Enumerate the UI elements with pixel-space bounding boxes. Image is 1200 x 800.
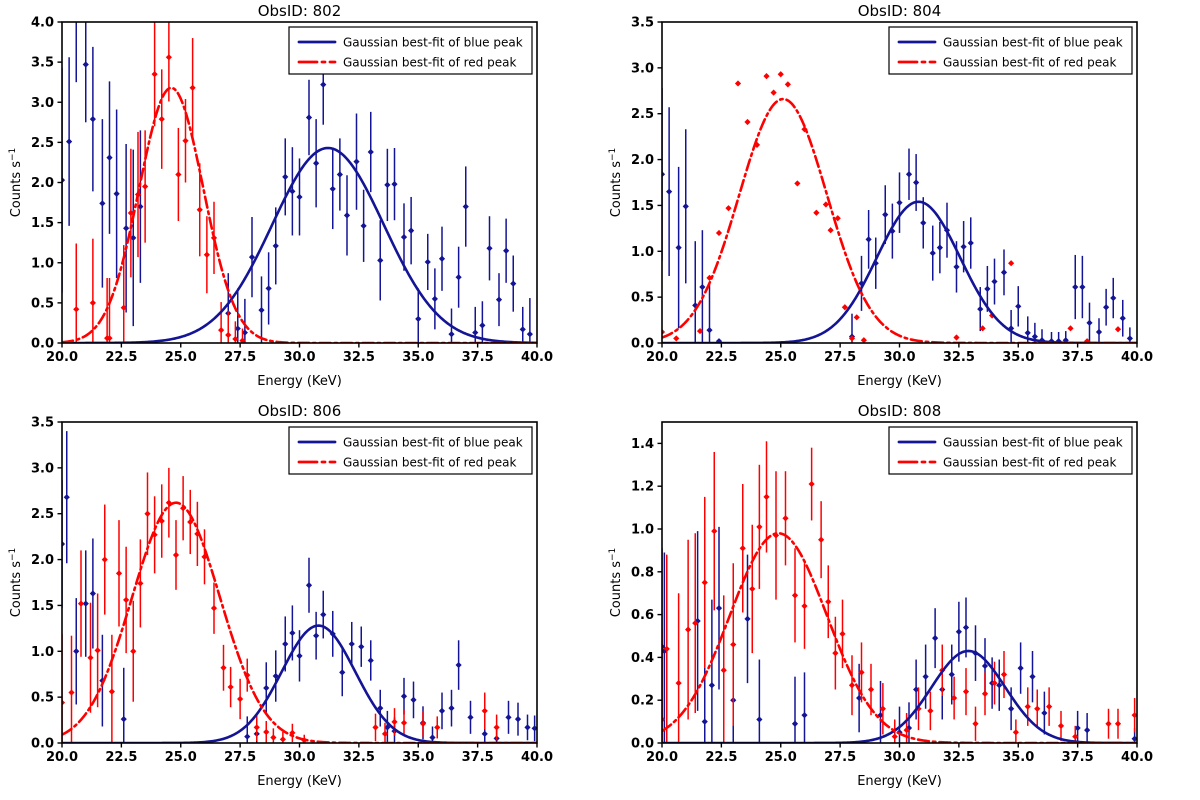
y-tick-label: 1.0 — [31, 256, 54, 271]
x-tick-label: 22.5 — [105, 350, 137, 365]
y-tick-label: 1.5 — [31, 599, 54, 614]
y-tick-label: 3.0 — [31, 461, 54, 476]
y-tick-label: 0.0 — [631, 337, 654, 352]
x-tick-label: 20.0 — [646, 350, 678, 365]
y-tick-label: 0.5 — [31, 296, 54, 311]
y-tick-label: 1.0 — [631, 523, 654, 538]
x-tick-label: 40.0 — [1121, 350, 1153, 365]
data-series — [659, 527, 1138, 743]
x-tick-label: 27.5 — [224, 750, 256, 765]
legend: Gaussian best-fit of blue peakGaussian b… — [889, 27, 1132, 74]
y-tick-label: 2.5 — [631, 107, 654, 122]
y-tick-label: 3.5 — [631, 16, 654, 31]
plot-area — [59, 431, 538, 743]
x-tick-label: 37.5 — [462, 350, 494, 365]
x-tick-label: 37.5 — [462, 750, 494, 765]
y-tick-label: 0.0 — [31, 337, 54, 352]
y-axis-label: Counts s−1 — [608, 148, 624, 218]
y-tick-label: 1.0 — [631, 245, 654, 260]
x-tick-label: 30.0 — [883, 350, 915, 365]
y-tick-label: 0.8 — [631, 565, 654, 580]
x-tick-label: 25.0 — [165, 750, 197, 765]
x-axis-label: Energy (KeV) — [257, 374, 342, 389]
x-axis-label: Energy (KeV) — [857, 774, 942, 789]
y-tick-label: 2.0 — [31, 176, 54, 191]
y-tick-label: 1.5 — [631, 199, 654, 214]
y-tick-label: 3.5 — [31, 56, 54, 71]
data-series — [659, 88, 1133, 344]
legend-label: Gaussian best-fit of red peak — [943, 456, 1116, 470]
y-tick-label: 2.5 — [31, 507, 54, 522]
data-series — [659, 441, 1138, 743]
y-tick-label: 0.6 — [631, 608, 654, 623]
x-tick-label: 20.0 — [46, 350, 78, 365]
x-tick-label: 37.5 — [1062, 750, 1094, 765]
y-tick-label: 0.5 — [31, 691, 54, 706]
y-tick-label: 0.5 — [631, 291, 654, 306]
y-tick-label: 1.0 — [31, 645, 54, 660]
legend-label: Gaussian best-fit of blue peak — [943, 436, 1123, 450]
data-series — [59, 431, 538, 743]
y-axis-label: Counts s−1 — [8, 548, 24, 618]
panel-title: ObsID: 808 — [858, 402, 942, 420]
data-series — [73, 22, 245, 344]
y-tick-label: 1.4 — [631, 437, 654, 452]
legend: Gaussian best-fit of blue peakGaussian b… — [289, 427, 532, 474]
panel-title: ObsID: 802 — [258, 2, 342, 20]
chart-panel-808: ObsID: 80820.022.525.027.530.032.535.037… — [600, 400, 1200, 800]
chart-panel-806: ObsID: 80620.022.525.027.530.032.535.037… — [0, 400, 600, 800]
x-tick-label: 22.5 — [105, 750, 137, 765]
x-tick-label: 35.0 — [402, 350, 434, 365]
y-tick-label: 1.5 — [31, 216, 54, 231]
legend-label: Gaussian best-fit of red peak — [343, 56, 516, 70]
x-tick-label: 32.5 — [343, 750, 375, 765]
x-tick-label: 22.5 — [705, 750, 737, 765]
x-tick-label: 40.0 — [1121, 750, 1153, 765]
y-axis-label: Counts s−1 — [608, 548, 624, 618]
y-tick-label: 0.0 — [31, 737, 54, 752]
y-tick-label: 1.2 — [631, 480, 654, 495]
x-tick-label: 37.5 — [1062, 350, 1094, 365]
legend-label: Gaussian best-fit of red peak — [943, 56, 1116, 70]
x-tick-label: 35.0 — [402, 750, 434, 765]
panel-title: ObsID: 804 — [858, 2, 942, 20]
legend: Gaussian best-fit of blue peakGaussian b… — [289, 27, 532, 74]
y-tick-label: 3.0 — [631, 61, 654, 76]
y-tick-label: 0.2 — [631, 694, 654, 709]
x-tick-label: 32.5 — [943, 350, 975, 365]
x-tick-label: 40.0 — [521, 750, 553, 765]
x-tick-label: 35.0 — [1002, 350, 1034, 365]
y-tick-label: 2.5 — [31, 136, 54, 151]
data-series — [659, 71, 1121, 344]
x-tick-label: 25.0 — [765, 750, 797, 765]
x-tick-label: 40.0 — [521, 350, 553, 365]
x-tick-label: 27.5 — [824, 750, 856, 765]
x-axis-label: Energy (KeV) — [257, 774, 342, 789]
y-tick-label: 4.0 — [31, 16, 54, 31]
plot-area — [659, 441, 1138, 743]
plot-area — [659, 71, 1137, 344]
x-tick-label: 25.0 — [765, 350, 797, 365]
legend: Gaussian best-fit of blue peakGaussian b… — [889, 427, 1132, 474]
y-tick-label: 0.4 — [631, 651, 654, 666]
x-tick-label: 25.0 — [165, 350, 197, 365]
y-tick-label: 3.0 — [31, 96, 54, 111]
y-axis-label: Counts s−1 — [8, 148, 24, 218]
x-tick-label: 32.5 — [343, 350, 375, 365]
x-tick-label: 32.5 — [943, 750, 975, 765]
legend-label: Gaussian best-fit of blue peak — [343, 36, 523, 50]
x-axis-label: Energy (KeV) — [857, 374, 942, 389]
y-tick-label: 0.0 — [631, 737, 654, 752]
x-tick-label: 27.5 — [824, 350, 856, 365]
legend-label: Gaussian best-fit of blue peak — [943, 36, 1123, 50]
x-tick-label: 30.0 — [883, 750, 915, 765]
legend-label: Gaussian best-fit of red peak — [343, 456, 516, 470]
x-tick-label: 22.5 — [705, 350, 737, 365]
x-tick-label: 20.0 — [646, 750, 678, 765]
chart-panel-802: ObsID: 80220.022.525.027.530.032.535.037… — [0, 0, 600, 400]
x-tick-label: 35.0 — [1002, 750, 1034, 765]
y-tick-label: 2.0 — [31, 553, 54, 568]
y-tick-label: 2.0 — [631, 153, 654, 168]
x-tick-label: 30.0 — [283, 750, 315, 765]
data-series — [59, 468, 500, 743]
x-tick-label: 20.0 — [46, 750, 78, 765]
chart-panel-804: ObsID: 80420.022.525.027.530.032.535.037… — [600, 0, 1200, 400]
y-tick-label: 3.5 — [31, 416, 54, 431]
figure-canvas: ObsID: 80220.022.525.027.530.032.535.037… — [0, 0, 1200, 800]
legend-label: Gaussian best-fit of blue peak — [343, 436, 523, 450]
panel-title: ObsID: 806 — [258, 402, 342, 420]
x-tick-label: 30.0 — [283, 350, 315, 365]
x-tick-label: 27.5 — [224, 350, 256, 365]
